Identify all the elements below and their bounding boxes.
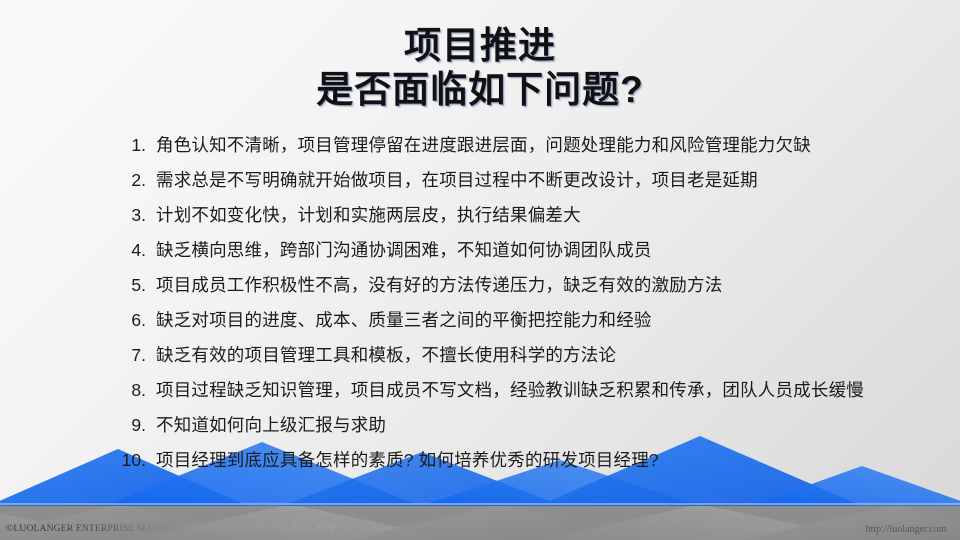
list-item: 10. 项目经理到底应具备怎样的素质? 如何培养优秀的研发项目经理? [104, 449, 934, 484]
problem-list: 1. 角色认知不清晰，项目管理停留在进度跟进层面，问题处理能力和风险管理能力欠缺… [104, 134, 934, 484]
list-item-label: 项目过程缺乏知识管理，项目成员不写文档，经验教训缺乏积累和传承，团队人员成长缓慢 [156, 379, 934, 401]
title-line-2: 是否面临如下问题? [0, 68, 960, 112]
list-item-label: 角色认知不清晰，项目管理停留在进度跟进层面，问题处理能力和风险管理能力欠缺 [156, 134, 934, 156]
list-item-label: 缺乏有效的项目管理工具和模板，不擅长使用科学的方法论 [156, 344, 934, 366]
list-item: 6. 缺乏对项目的进度、成本、质量三者之间的平衡把控能力和经验 [104, 309, 934, 344]
list-item-label: 缺乏横向思维，跨部门沟通协调困难，不知道如何协调团队成员 [156, 239, 934, 261]
list-item: 3. 计划不如变化快，计划和实施两层皮，执行结果偏差大 [104, 204, 934, 239]
list-item: 9. 不知道如何向上级汇报与求助 [104, 414, 934, 449]
list-item: 2. 需求总是不写明确就开始做项目，在项目过程中不断更改设计，项目老是延期 [104, 169, 934, 204]
list-item: 5. 项目成员工作积极性不高，没有好的方法传递压力，缺乏有效的激励方法 [104, 274, 934, 309]
list-item: 1. 角色认知不清晰，项目管理停留在进度跟进层面，问题处理能力和风险管理能力欠缺 [104, 134, 934, 169]
list-item-number: 4. [104, 240, 156, 261]
list-item: 8. 项目过程缺乏知识管理，项目成员不写文档，经验教训缺乏积累和传承，团队人员成… [104, 379, 934, 414]
list-item-label: 不知道如何向上级汇报与求助 [156, 414, 934, 436]
list-item-label: 计划不如变化快，计划和实施两层皮，执行结果偏差大 [156, 204, 934, 226]
list-item-number: 8. [104, 380, 156, 401]
footer-copyright: ©LUOLANGER ENTERPRISE MANAGEMENT CONSULT… [6, 524, 334, 534]
list-item-label: 缺乏对项目的进度、成本、质量三者之间的平衡把控能力和经验 [156, 309, 934, 331]
list-item: 7. 缺乏有效的项目管理工具和模板，不擅长使用科学的方法论 [104, 344, 934, 379]
list-item-number: 9. [104, 415, 156, 436]
list-item-label: 需求总是不写明确就开始做项目，在项目过程中不断更改设计，项目老是延期 [156, 169, 934, 191]
title-line-1: 项目推进 [0, 24, 960, 68]
list-item-number: 7. [104, 345, 156, 366]
list-item-label: 项目成员工作积极性不高，没有好的方法传递压力，缺乏有效的激励方法 [156, 274, 934, 296]
list-item-number: 10. [104, 450, 156, 471]
list-item-number: 6. [104, 310, 156, 331]
list-item-number: 1. [104, 135, 156, 156]
list-item-number: 5. [104, 275, 156, 296]
list-item-number: 3. [104, 205, 156, 226]
slide-canvas: 项目推进 是否面临如下问题? 1. 角色认知不清晰，项目管理停留在进度跟进层面，… [0, 0, 960, 540]
waterline-highlight [0, 503, 960, 505]
list-item-number: 2. [104, 170, 156, 191]
page-title: 项目推进 是否面临如下问题? [0, 24, 960, 112]
list-item: 4. 缺乏横向思维，跨部门沟通协调困难，不知道如何协调团队成员 [104, 239, 934, 274]
list-item-label: 项目经理到底应具备怎样的素质? 如何培养优秀的研发项目经理? [156, 449, 934, 471]
footer-url[interactable]: http://luolanger.com [860, 524, 952, 536]
